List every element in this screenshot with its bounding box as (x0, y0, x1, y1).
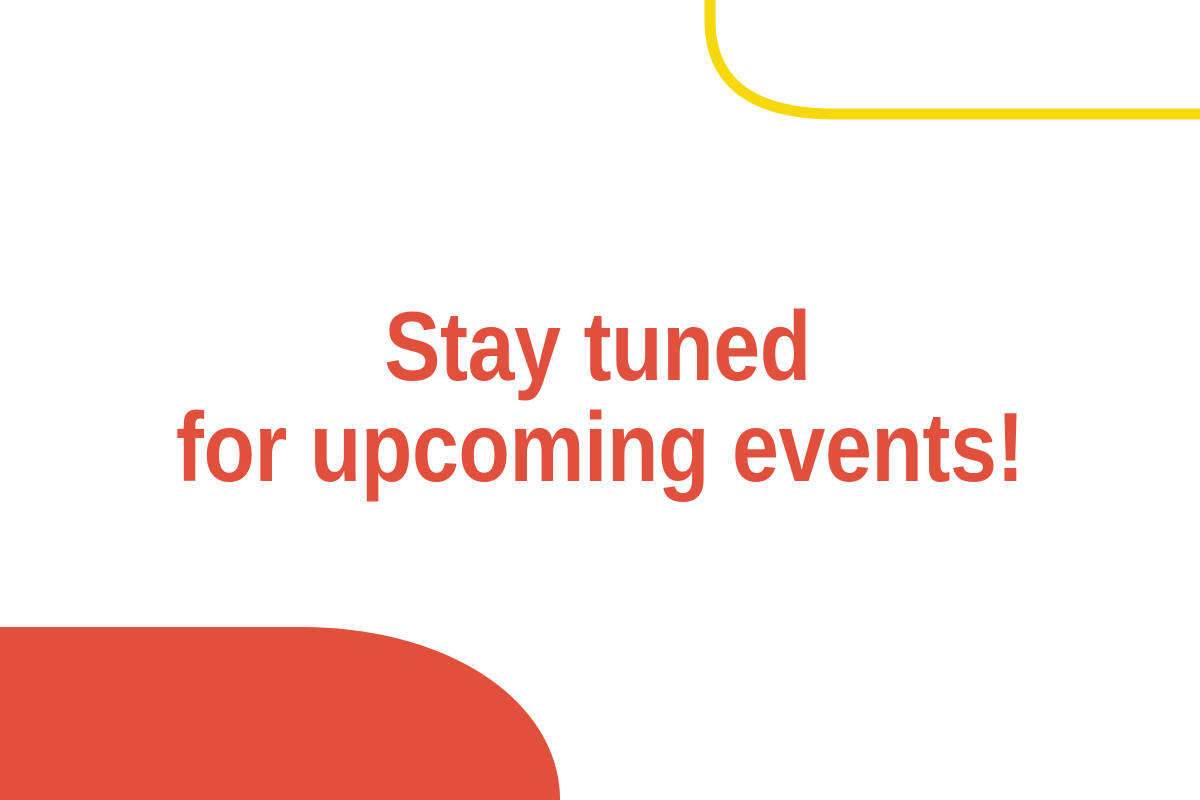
poster-canvas: Stay tuned for upcoming events! (0, 0, 1200, 800)
headline-line-2: for upcoming events! (84, 397, 1116, 498)
headline-line-1: Stay tuned (79, 296, 1115, 397)
yellow-rounded-corner-line (710, 0, 1200, 114)
red-quarter-round-shape (0, 627, 560, 800)
headline-block: Stay tuned for upcoming events! (0, 296, 1200, 498)
